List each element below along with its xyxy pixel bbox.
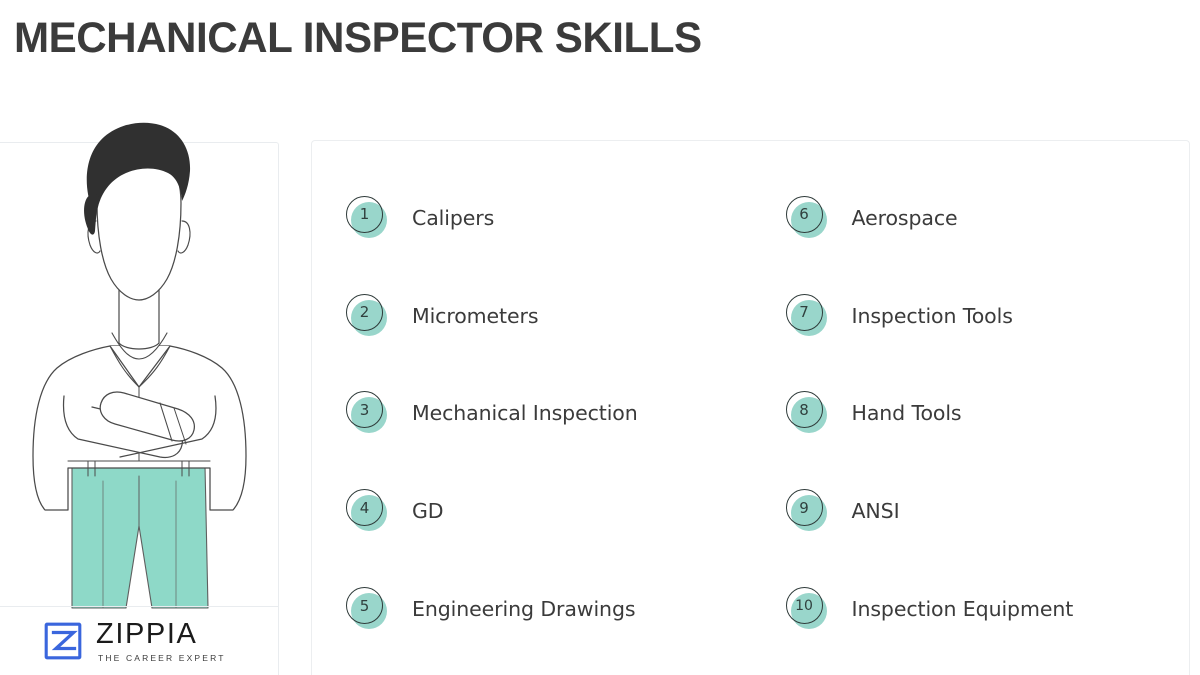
list-item[interactable]: 10 Inspection Equipment xyxy=(752,560,1192,658)
list-item[interactable]: 7 Inspection Tools xyxy=(752,267,1192,365)
badge-number: 3 xyxy=(346,391,383,428)
rank-badge: 6 xyxy=(785,196,829,240)
zippia-name: ZIPPIA xyxy=(96,620,226,649)
skill-label: ANSI xyxy=(852,499,900,523)
inspector-illustration xyxy=(0,143,279,606)
zippia-tagline: THE CAREER EXPERT xyxy=(98,654,226,663)
skill-label: Calipers xyxy=(412,206,494,230)
list-item[interactable]: 2 Micrometers xyxy=(312,267,752,365)
badge-number: 5 xyxy=(346,587,383,624)
rank-badge: 5 xyxy=(345,587,389,631)
skill-label: Aerospace xyxy=(852,206,958,230)
rank-badge: 9 xyxy=(785,489,829,533)
skill-label: Micrometers xyxy=(412,304,538,328)
zippia-logo[interactable]: ZIPPIA THE CAREER EXPERT xyxy=(0,607,279,675)
rank-badge: 1 xyxy=(345,196,389,240)
badge-number: 2 xyxy=(346,294,383,331)
zippia-wordmark: ZIPPIA THE CAREER EXPERT xyxy=(96,620,226,663)
list-item[interactable]: 4 GD xyxy=(312,462,752,560)
list-item[interactable]: 6 Aerospace xyxy=(752,169,1192,267)
rank-badge: 3 xyxy=(345,391,389,435)
list-item[interactable]: 3 Mechanical Inspection xyxy=(312,365,752,463)
badge-number: 9 xyxy=(786,489,823,526)
skill-label: GD xyxy=(412,499,443,523)
badge-number: 10 xyxy=(786,587,823,624)
list-item[interactable]: 1 Calipers xyxy=(312,169,752,267)
rank-badge: 8 xyxy=(785,391,829,435)
rank-badge: 10 xyxy=(785,587,829,631)
skills-card: 1 Calipers 2 Micrometers 3 Mechanical xyxy=(311,140,1190,675)
skill-label: Inspection Tools xyxy=(852,304,1013,328)
badge-number: 1 xyxy=(346,196,383,233)
page-title: MECHANICAL INSPECTOR SKILLS xyxy=(14,14,702,63)
rank-badge: 2 xyxy=(345,294,389,338)
badge-number: 8 xyxy=(786,391,823,428)
skill-label: Hand Tools xyxy=(852,401,962,425)
list-item[interactable]: 8 Hand Tools xyxy=(752,365,1192,463)
skill-label: Engineering Drawings xyxy=(412,597,635,621)
list-item[interactable]: 9 ANSI xyxy=(752,462,1192,560)
badge-number: 4 xyxy=(346,489,383,526)
badge-number: 7 xyxy=(786,294,823,331)
list-item[interactable]: 5 Engineering Drawings xyxy=(312,560,752,658)
illustration-panel: ZIPPIA THE CAREER EXPERT xyxy=(0,142,279,675)
badge-number: 6 xyxy=(786,196,823,233)
skill-label: Inspection Equipment xyxy=(852,597,1074,621)
skills-list: 1 Calipers 2 Micrometers 3 Mechanical xyxy=(312,141,1191,675)
skills-infographic: MECHANICAL INSPECTOR SKILLS xyxy=(0,0,1200,675)
rank-badge: 4 xyxy=(345,489,389,533)
zippia-z-mark-icon xyxy=(44,622,82,660)
rank-badge: 7 xyxy=(785,294,829,338)
skill-label: Mechanical Inspection xyxy=(412,401,638,425)
